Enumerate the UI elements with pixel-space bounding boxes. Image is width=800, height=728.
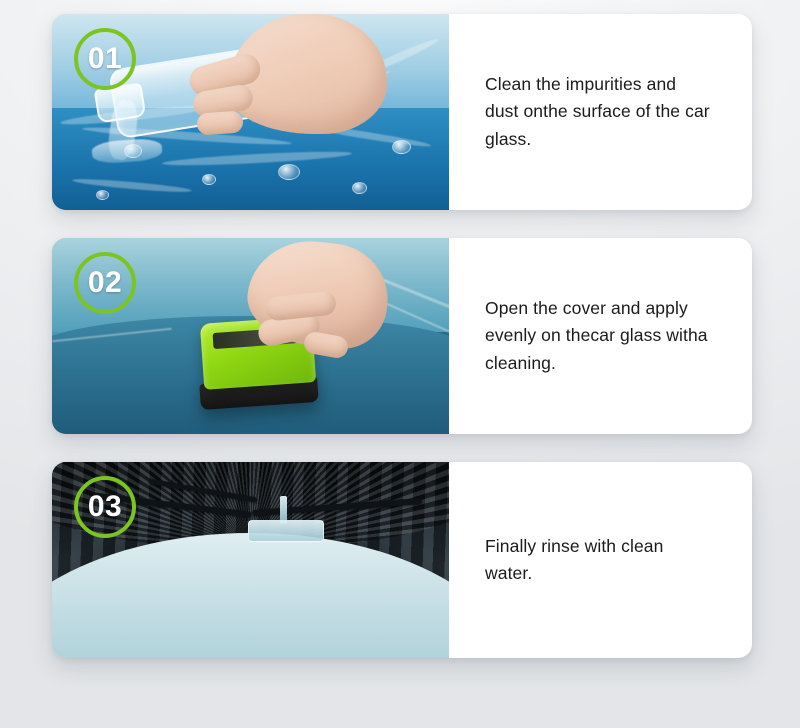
washer-nozzle [248,520,324,542]
step-2-photo: 02 [52,238,449,434]
water-drop [352,182,367,194]
steps-stage: 01 Clean the impurities and dust onthe s… [0,0,800,728]
water-drop [392,140,411,154]
step-3-photo: 03 [52,462,449,658]
step-3-number: 03 [88,492,122,522]
step-1-badge: 01 [74,28,136,90]
step-3-badge: 03 [74,476,136,538]
step-2-text-pane: Open the cover and apply evenly on theca… [449,238,752,434]
step-card-2: 02 Open the cover and apply evenly on th… [52,238,752,434]
step-2-number: 02 [88,268,122,298]
step-1-description: Clean the impurities and dust onthe surf… [485,71,714,152]
step-3-text-pane: Finally rinse with clean water. [449,462,752,658]
step-1-photo: 01 [52,14,449,210]
step-2-description: Open the cover and apply evenly on theca… [485,295,714,376]
step-2-badge: 02 [74,252,136,314]
step-card-1: 01 Clean the impurities and dust onthe s… [52,14,752,210]
step-3-description: Finally rinse with clean water. [485,533,714,587]
water-drop [96,190,109,200]
water-drop [278,164,300,180]
finger [196,110,243,135]
step-1-number: 01 [88,44,122,74]
water-drop [202,174,216,185]
step-card-3: 03 Finally rinse with clean water. [52,462,752,658]
step-1-text-pane: Clean the impurities and dust onthe surf… [449,14,752,210]
